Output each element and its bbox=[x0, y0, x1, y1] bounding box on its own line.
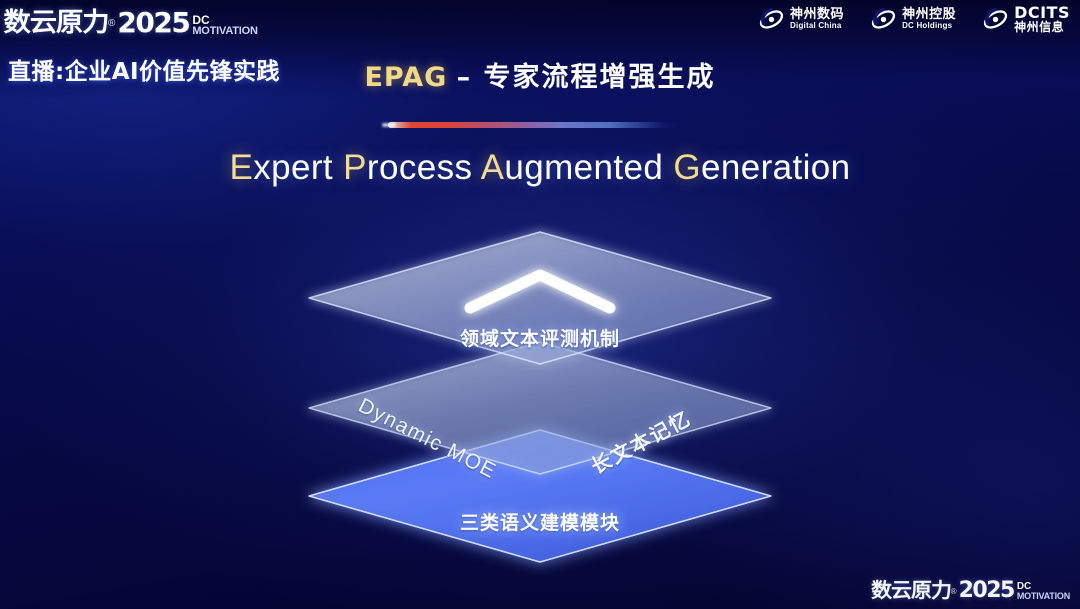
brand-logo-bottom: 数云原力 ® 2025 DC MOTIVATION bbox=[873, 574, 1070, 603]
partner-name-en: Digital China bbox=[790, 22, 844, 31]
partner-logo-digital-china: 神州数码 Digital China bbox=[758, 6, 844, 33]
expansion-rest-augmented: ugmented bbox=[504, 148, 673, 187]
footer-brand-registered-mark: ® bbox=[951, 587, 957, 596]
expansion-rest-generation: eneration bbox=[701, 148, 851, 187]
expansion-cap-p: P bbox=[343, 148, 367, 187]
footer-brand-motivation-label: MOTIVATION bbox=[1017, 592, 1070, 601]
title-expansion: Expert Process Augmented Generation bbox=[0, 148, 1080, 188]
swirl-logo-icon bbox=[982, 6, 1009, 33]
partner-name-cn: 神州信息 bbox=[1014, 21, 1070, 34]
expansion-cap-g: G bbox=[673, 148, 701, 187]
brand-year: 2025 bbox=[117, 6, 189, 39]
layered-architecture-diagram: 三类语义建模模块 bbox=[285, 218, 795, 578]
partner-text-block: DCITS 神州信息 bbox=[1014, 4, 1070, 34]
partner-text-block: 神州控股 DC Holdings bbox=[902, 8, 956, 31]
footer-brand-name-cn: 数云原力 bbox=[871, 574, 951, 603]
page-title: EPAG – 专家流程增强生成 bbox=[0, 55, 1080, 94]
partner-logo-dc-holdings: 神州控股 DC Holdings bbox=[870, 6, 956, 33]
partner-name-en: DCITS bbox=[1014, 4, 1070, 21]
expansion-cap-a: A bbox=[481, 148, 505, 187]
partner-text-block: 神州数码 Digital China bbox=[790, 8, 844, 31]
swirl-logo-icon bbox=[870, 6, 897, 33]
swirl-logo-icon bbox=[758, 6, 785, 33]
footer-brand-year: 2025 bbox=[959, 578, 1014, 603]
footer-brand-dc-motivation: DC MOTIVATION bbox=[1017, 582, 1070, 601]
partner-name-en: DC Holdings bbox=[902, 22, 956, 31]
title-divider bbox=[388, 122, 680, 128]
title-acronym: EPAG bbox=[364, 62, 447, 93]
brand-dc-motivation: DC MOTIVATION bbox=[192, 14, 257, 37]
brand-logo-top: 数云原力 ® 2025 DC MOTIVATION bbox=[6, 2, 258, 39]
brand-registered-mark: ® bbox=[108, 18, 115, 29]
brand-name-cn: 数云原力 bbox=[3, 2, 108, 39]
expansion-cap-e: E bbox=[229, 148, 253, 187]
partner-name-cn: 神州控股 bbox=[902, 8, 956, 22]
expansion-rest-expert: xpert bbox=[253, 148, 343, 187]
slide-canvas: 数云原力 ® 2025 DC MOTIVATION 直播:企业AI价值先锋实践 … bbox=[0, 0, 1080, 609]
brand-motivation-label: MOTIVATION bbox=[192, 26, 257, 37]
expansion-rest-process: rocess bbox=[367, 148, 481, 187]
partner-logo-dcits: DCITS 神州信息 bbox=[982, 4, 1070, 34]
partner-logo-group: 神州数码 Digital China 神州控股 DC Holdings bbox=[758, 4, 1070, 34]
partner-name-cn: 神州数码 bbox=[790, 8, 844, 22]
layer-top-label: 领域文本评测机制 bbox=[285, 324, 795, 351]
title-chinese: – 专家流程增强生成 bbox=[457, 62, 716, 93]
diagram-layer-top[interactable]: 领域文本评测机制 bbox=[285, 218, 795, 578]
